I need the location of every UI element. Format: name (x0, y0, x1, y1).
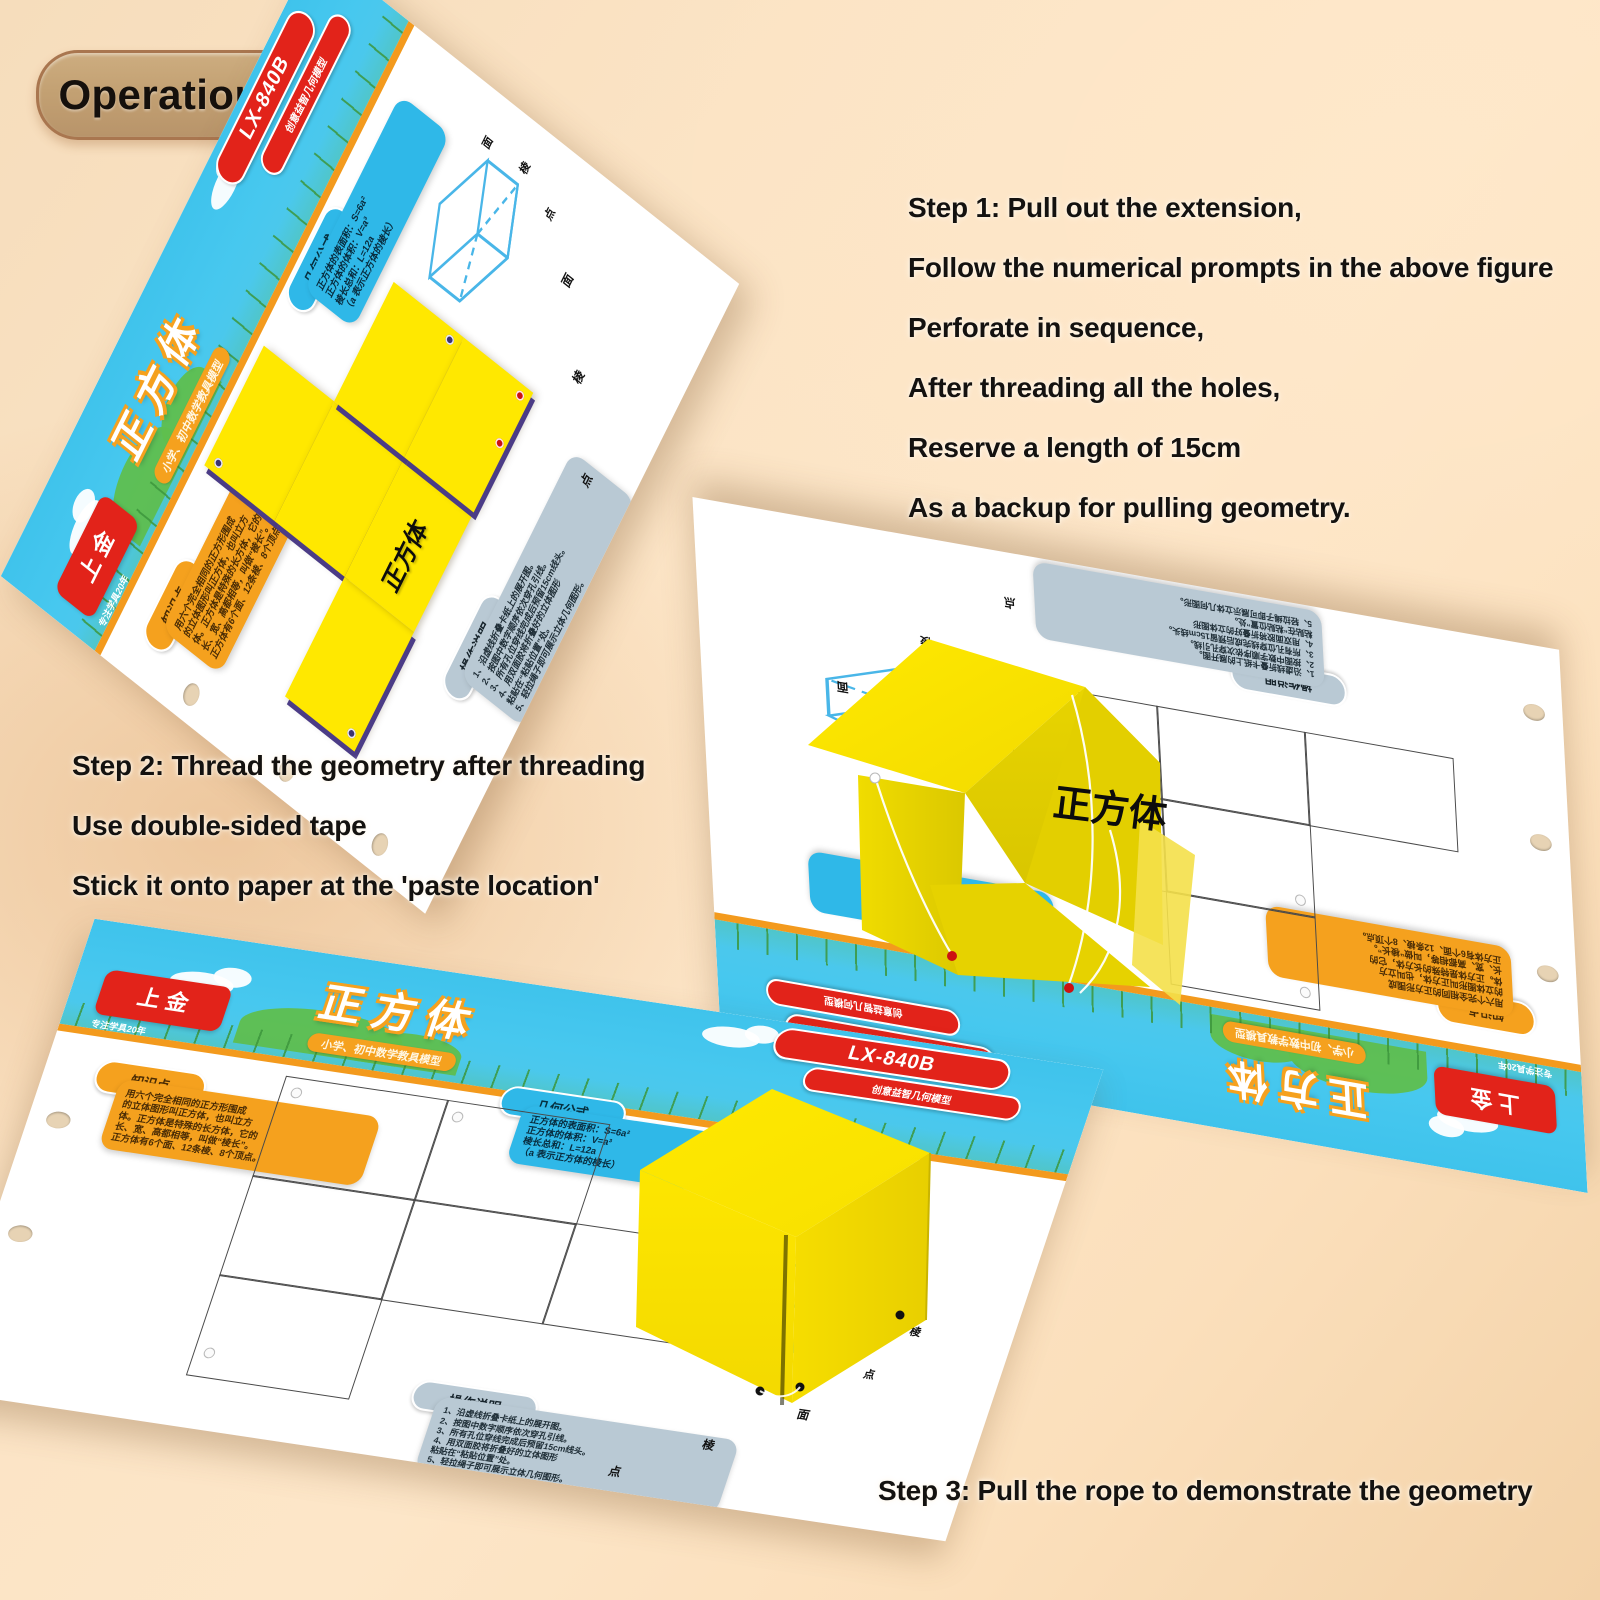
step-1-line: Reserve a length of 15cm (908, 432, 1553, 464)
punch-hole (6, 1223, 35, 1243)
punch-hole (1537, 963, 1560, 983)
cube-net-label: 正方体 (372, 510, 433, 598)
step-3-line: Step 3: Pull the rope to demonstrate the… (878, 1475, 1533, 1507)
step-2-line: Stick it onto paper at the 'paste locati… (72, 870, 645, 902)
step-1-line: As a backup for pulling geometry. (908, 492, 1553, 524)
step-2-text: Step 2: Thread the geometry after thread… (72, 750, 645, 930)
step-2-line: Use double-sided tape (72, 810, 645, 842)
operation-box: 1、沿虚线折叠卡纸上的展开图。 2、按图中数字顺序依次穿孔引线。 3、所有孔位穿… (460, 451, 637, 728)
brand-logo-text: 上 金 (1470, 1085, 1521, 1116)
step-2-line: Step 2: Thread the geometry after thread… (72, 750, 645, 782)
punch-hole (180, 679, 203, 709)
step-1-line: Follow the numerical prompts in the abov… (908, 252, 1553, 284)
assembled-cube-step3[interactable] (600, 1075, 1020, 1415)
punch-hole (1530, 833, 1553, 853)
folded-cube-step2[interactable]: 正方体 (780, 615, 1200, 1015)
step-3-text: Step 3: Pull the rope to demonstrate the… (878, 1475, 1533, 1507)
edge-label-vertex: 点 (1003, 594, 1016, 614)
step-1-line: Perforate in sequence, (908, 312, 1553, 344)
step-1-line: Step 1: Pull out the extension, (908, 192, 1553, 224)
wireframe-label-vertex: 点 (540, 203, 558, 223)
step-1-line: After threading all the holes, (908, 372, 1553, 404)
brand-logo-text: 上 金 (135, 986, 192, 1015)
punch-hole (44, 1110, 73, 1130)
step-1-text: Step 1: Pull out the extension, Follow t… (908, 192, 1553, 552)
brand-logo-text: 上 金 (77, 527, 118, 587)
edge-label-edge: 棱 (568, 366, 587, 388)
edge-label-face: 面 (557, 269, 576, 291)
punch-hole (1523, 703, 1546, 723)
net-outline-cell (1304, 732, 1458, 853)
